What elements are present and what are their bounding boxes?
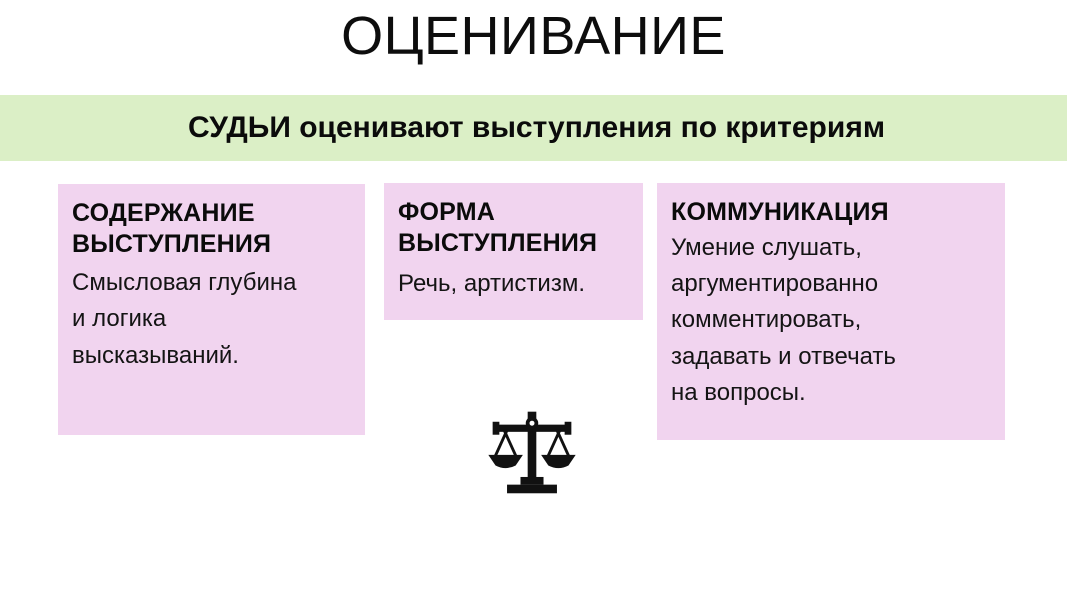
page-title: ОЦЕНИВАНИЕ xyxy=(0,8,1067,65)
criteria-card-body: Смысловая глубина и логика высказываний. xyxy=(72,265,351,374)
criteria-card-forma: ФОРМА ВЫСТУПЛЕНИЯ Речь, артистизм. xyxy=(384,183,643,320)
criteria-card-heading: КОММУНИКАЦИЯ xyxy=(671,197,991,228)
slide-canvas: ОЦЕНИВАНИЕ СУДЬИ оценивают выступления п… xyxy=(0,0,1067,600)
criteria-card-heading: ФОРМА ВЫСТУПЛЕНИЯ xyxy=(398,197,629,258)
criteria-card-kommunikatsiya: КОММУНИКАЦИЯ Умение слушать, аргументиро… xyxy=(657,183,1005,440)
balance-scales-icon xyxy=(484,404,580,500)
criteria-card-body: Речь, артистизм. xyxy=(398,266,629,302)
criteria-banner-text: СУДЬИ оценивают выступления по критериям xyxy=(0,111,1067,145)
criteria-card-heading: СОДЕРЖАНИЕ ВЫСТУПЛЕНИЯ xyxy=(72,198,351,259)
criteria-card-soderzhanie: СОДЕРЖАНИЕ ВЫСТУПЛЕНИЯ Смысловая глубина… xyxy=(58,184,365,435)
criteria-banner: СУДЬИ оценивают выступления по критериям xyxy=(0,95,1067,161)
criteria-card-body: Умение слушать, аргументированно коммент… xyxy=(671,230,991,412)
